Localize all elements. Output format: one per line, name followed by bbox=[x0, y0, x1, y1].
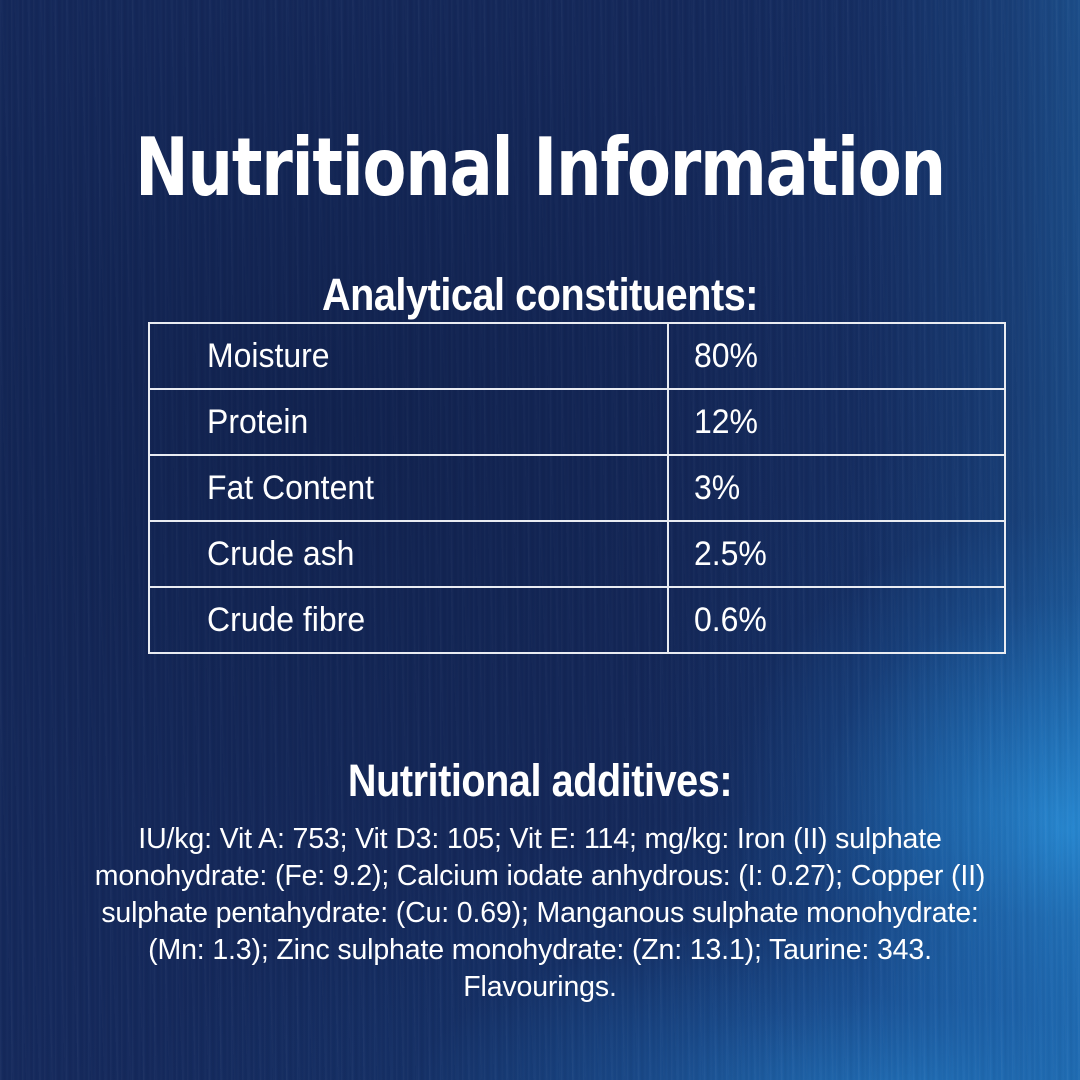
nutrient-label: Crude fibre bbox=[207, 600, 365, 640]
table-cell-nutrient: Protein bbox=[149, 389, 668, 455]
page-title: Nutritional Information bbox=[108, 122, 972, 214]
table-cell-nutrient: Fat Content bbox=[149, 455, 668, 521]
table-cell-nutrient: Crude ash bbox=[149, 521, 668, 587]
nutrient-value: 80% bbox=[694, 336, 758, 376]
table-cell-value: 80% bbox=[668, 323, 1005, 389]
nutrient-value: 12% bbox=[694, 402, 758, 442]
panel-content: Nutritional Information Analytical const… bbox=[0, 0, 1080, 1080]
analytical-constituents-table: Moisture 80% Protein 12% Fat bbox=[148, 322, 1006, 654]
nutritional-additives-body: IU/kg: Vit A: 753; Vit D3: 105; Vit E: 1… bbox=[78, 821, 1002, 1006]
table-row: Crude ash 2.5% bbox=[149, 521, 1005, 587]
table-cell-nutrient: Moisture bbox=[149, 323, 668, 389]
table-row: Fat Content 3% bbox=[149, 455, 1005, 521]
nutrient-label: Fat Content bbox=[207, 468, 374, 508]
table-cell-value: 12% bbox=[668, 389, 1005, 455]
nutrient-value: 0.6% bbox=[694, 600, 767, 640]
nutritional-additives-heading: Nutritional additives: bbox=[65, 755, 1015, 807]
table-cell-value: 2.5% bbox=[668, 521, 1005, 587]
table-body: Moisture 80% Protein 12% Fat bbox=[149, 323, 1005, 653]
nutrient-value: 3% bbox=[694, 468, 740, 508]
table-cell-nutrient: Crude fibre bbox=[149, 587, 668, 653]
table-cell-value: 0.6% bbox=[668, 587, 1005, 653]
nutritional-information-panel: Nutritional Information Analytical const… bbox=[0, 0, 1080, 1080]
table-cell-value: 3% bbox=[668, 455, 1005, 521]
nutrient-label: Moisture bbox=[207, 336, 330, 376]
analytical-constituents-heading: Analytical constituents: bbox=[65, 269, 1015, 321]
nutrient-label: Protein bbox=[207, 402, 308, 442]
table-row: Protein 12% bbox=[149, 389, 1005, 455]
nutrient-value: 2.5% bbox=[694, 534, 767, 574]
table-row: Crude fibre 0.6% bbox=[149, 587, 1005, 653]
nutrient-label: Crude ash bbox=[207, 534, 354, 574]
table-row: Moisture 80% bbox=[149, 323, 1005, 389]
